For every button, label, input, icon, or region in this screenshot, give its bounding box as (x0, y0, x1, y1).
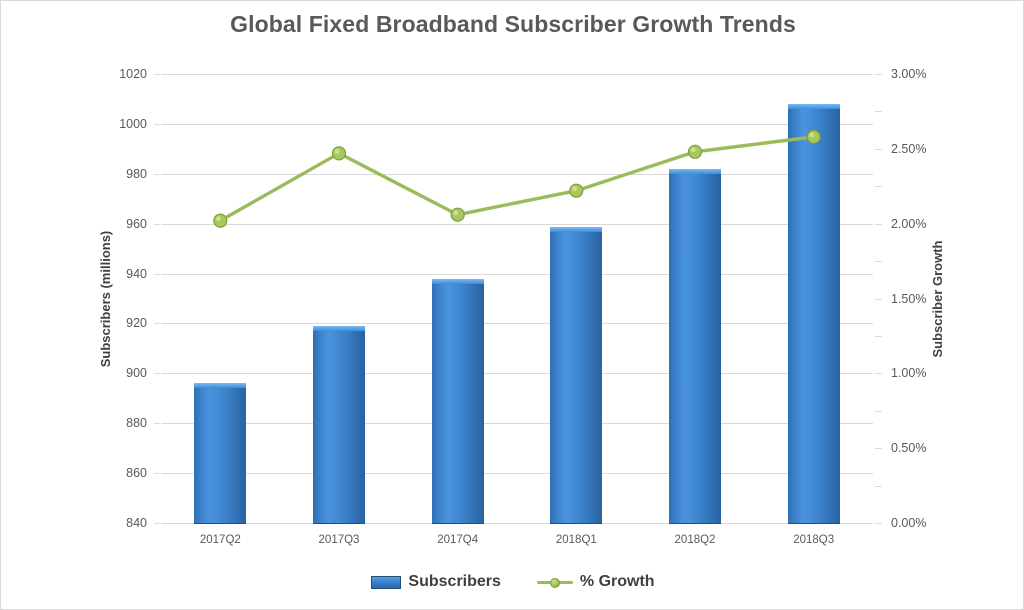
bar-swatch-icon (371, 576, 401, 589)
right-axis-tick-label: 3.00% (891, 68, 961, 80)
right-axis-tick-mark (875, 261, 882, 262)
left-axis-tick-label: 920 (87, 317, 147, 329)
gridline (161, 523, 873, 524)
line-marker-swatch-icon (537, 576, 573, 589)
left-axis-tick-label: 960 (87, 218, 147, 230)
line-series-growth (161, 74, 873, 523)
left-axis-title: Subscribers (millions) (98, 230, 113, 367)
growth-marker[interactable] (333, 147, 346, 160)
left-axis-tick-mark (154, 423, 160, 424)
right-axis-tick-mark (875, 336, 882, 337)
right-axis-tick-mark (875, 224, 882, 225)
growth-marker-highlight (810, 133, 815, 138)
x-axis-tick-label: 2017Q4 (398, 534, 518, 546)
left-axis-tick-mark (154, 74, 160, 75)
left-axis-tick-mark (154, 523, 160, 524)
growth-marker[interactable] (570, 184, 583, 197)
left-axis-tick-mark (154, 174, 160, 175)
left-axis-tick-mark (154, 124, 160, 125)
legend-label-growth: % Growth (580, 573, 655, 591)
left-axis-tick-label: 840 (87, 517, 147, 529)
x-axis-tick-label: 2018Q2 (635, 534, 755, 546)
right-axis-tick-label: 1.50% (891, 293, 961, 305)
growth-marker-highlight (691, 147, 696, 152)
right-axis-tick-mark (875, 486, 882, 487)
growth-line-path (220, 137, 813, 221)
growth-markers (214, 130, 820, 227)
legend-item-growth[interactable]: % Growth (537, 573, 655, 591)
growth-marker-highlight (216, 216, 221, 221)
growth-marker[interactable] (214, 214, 227, 227)
right-axis-tick-mark (875, 411, 882, 412)
left-axis-tick-mark (154, 373, 160, 374)
x-axis-tick-label: 2017Q3 (279, 534, 399, 546)
left-axis-tick-label: 880 (87, 417, 147, 429)
right-axis-tick-label: 2.00% (891, 218, 961, 230)
right-axis-tick-label: 0.50% (891, 442, 961, 454)
growth-marker-highlight (572, 186, 577, 191)
x-axis-tick-label: 2018Q3 (754, 534, 874, 546)
right-axis-tick-mark (875, 149, 882, 150)
right-axis-tick-mark (875, 186, 882, 187)
right-axis-tick-mark (875, 373, 882, 374)
x-axis-tick-label: 2017Q2 (160, 534, 280, 546)
x-axis-tick-label: 2018Q1 (516, 534, 636, 546)
right-axis-tick-mark (875, 299, 882, 300)
right-axis-tick-label: 1.00% (891, 367, 961, 379)
left-axis-tick-mark (154, 323, 160, 324)
growth-marker-highlight (454, 210, 459, 215)
left-axis-title-wrapper: Subscribers (millions) (79, 74, 103, 523)
chart-title: Global Fixed Broadband Subscriber Growth… (1, 11, 1024, 38)
left-axis-tick-label: 900 (87, 367, 147, 379)
left-axis-tick-label: 940 (87, 268, 147, 280)
right-axis-tick-mark (875, 74, 882, 75)
left-axis-tick-mark (154, 473, 160, 474)
plot-area (161, 74, 873, 523)
left-axis-tick-label: 1020 (87, 68, 147, 80)
chart-container: Global Fixed Broadband Subscriber Growth… (0, 0, 1024, 610)
right-axis-tick-mark (875, 523, 882, 524)
left-axis-tick-label: 860 (87, 467, 147, 479)
left-axis-tick-label: 1000 (87, 118, 147, 130)
left-axis-tick-mark (154, 224, 160, 225)
left-axis-tick-mark (154, 274, 160, 275)
growth-marker[interactable] (689, 145, 702, 158)
right-axis-tick-mark (875, 111, 882, 112)
legend-item-subscribers[interactable]: Subscribers (371, 573, 500, 591)
growth-marker-highlight (335, 149, 340, 154)
legend-label-subscribers: Subscribers (408, 573, 500, 591)
chart-legend: Subscribers % Growth (1, 573, 1024, 591)
right-axis-tick-mark (875, 448, 882, 449)
growth-marker[interactable] (807, 130, 820, 143)
left-axis-tick-label: 980 (87, 168, 147, 180)
right-axis-tick-label: 0.00% (891, 517, 961, 529)
growth-marker[interactable] (451, 208, 464, 221)
right-axis-tick-label: 2.50% (891, 143, 961, 155)
